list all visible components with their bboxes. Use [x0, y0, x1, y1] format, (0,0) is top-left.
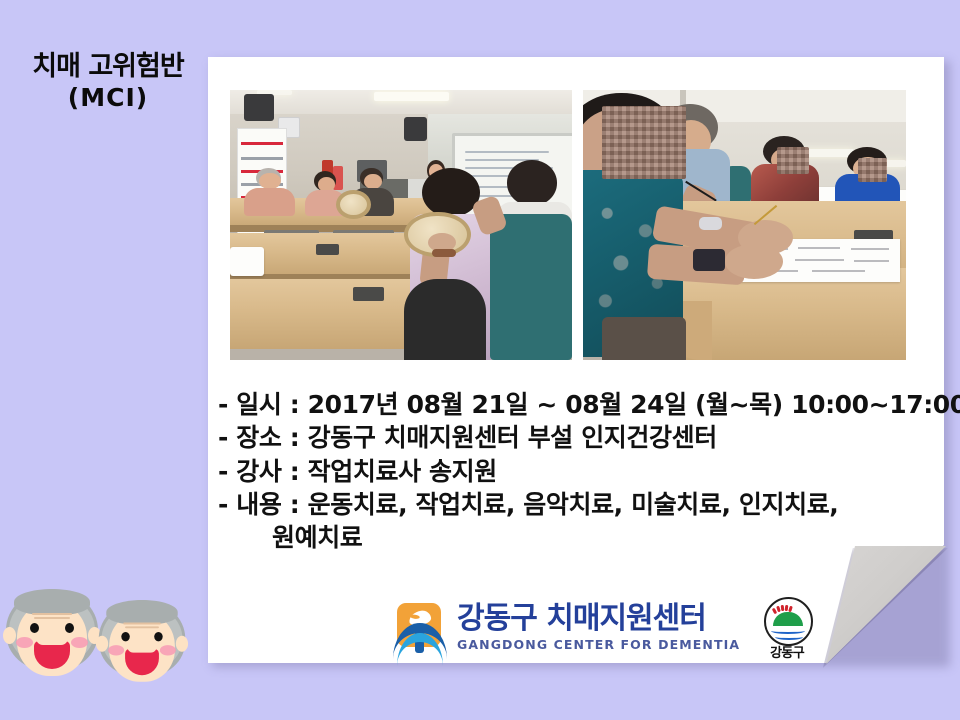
logo-korean-name: 강동구 치매지원센터 — [457, 604, 740, 634]
photo-gallery — [230, 90, 906, 360]
granny-face-right-icon — [99, 600, 185, 694]
gangdong-dementia-center-logo-icon — [393, 601, 447, 655]
slide-title: 치매 고위험반 (MCI) — [8, 52, 208, 112]
detail-line-place: - 장소 : 강동구 치매지원센터 부설 인지건강센터 — [218, 421, 938, 454]
event-details: - 일시 : 2017년 08월 21일 ~ 08월 24일 (월~목) 10:… — [218, 388, 938, 554]
page-subtitle: (MCI) — [8, 84, 208, 112]
photo-classroom-music-therapy — [230, 90, 572, 360]
gangdong-gu-emblem-icon: 강동구 — [758, 597, 816, 659]
detail-line-instructor: - 강사 : 작업치료사 송지원 — [218, 455, 938, 488]
granny-face-left-icon — [6, 589, 98, 689]
detail-line-date: - 일시 : 2017년 08월 21일 ~ 08월 24일 (월~목) 10:… — [218, 388, 938, 421]
emblem-label: 강동구 — [758, 642, 816, 661]
logo-english-name: GANGDONG CENTER FOR DEMENTIA — [457, 639, 740, 652]
logo-text-block: 강동구 치매지원센터 GANGDONG CENTER FOR DEMENTIA — [457, 604, 740, 652]
detail-line-content: - 내용 : 운동치료, 작업치료, 음악치료, 미술치료, 인지치료, — [218, 488, 938, 521]
page-title: 치매 고위험반 — [8, 52, 208, 82]
detail-line-content-cont: 원예치료 — [218, 521, 938, 554]
photo-cognitive-worksheet-session — [583, 90, 906, 360]
footer-logo-lockup: 강동구 치매지원센터 GANGDONG CENTER FOR DEMENTIA … — [393, 596, 816, 660]
slide-root: 치매 고위험반 (MCI) — [0, 0, 960, 720]
granny-illustration-group — [4, 583, 194, 703]
